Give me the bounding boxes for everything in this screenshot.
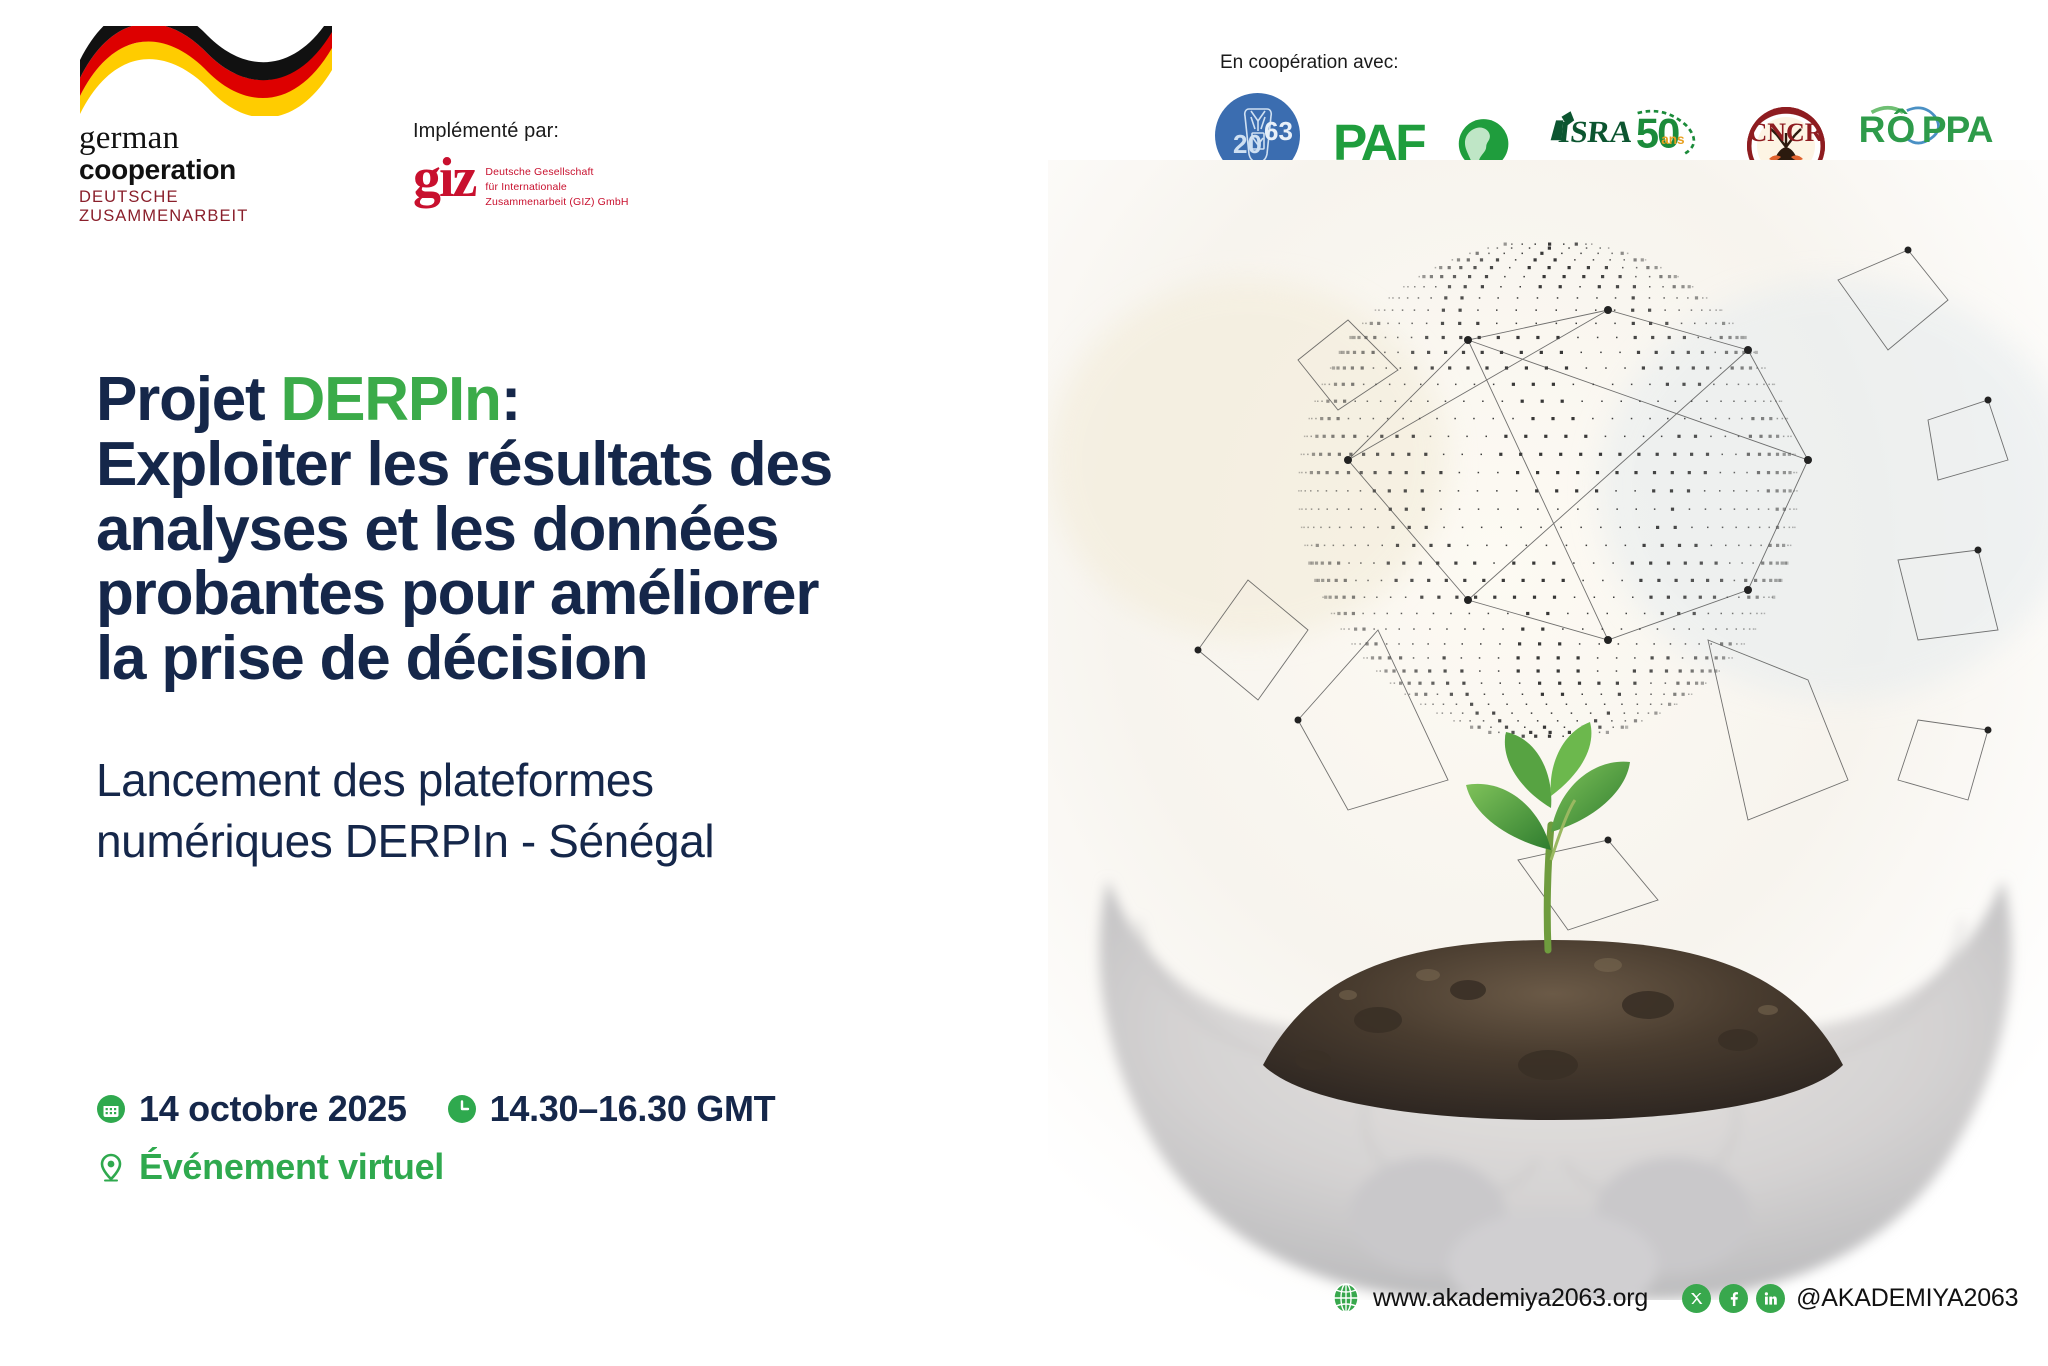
svg-text:R: R bbox=[1859, 108, 1886, 150]
title-line-3: analyses et les données bbox=[96, 495, 778, 564]
calendar-icon bbox=[96, 1094, 126, 1124]
svg-text:ISRA: ISRA bbox=[1557, 114, 1635, 149]
globe-icon bbox=[1330, 1282, 1362, 1314]
map-pin-icon bbox=[96, 1152, 126, 1182]
hands-globe-seedling-image: dots bbox=[1048, 160, 2048, 1300]
isra-bame-logo-icon: ISRA 50 ans bbox=[1547, 104, 1719, 162]
svg-text:CNCR: CNCR bbox=[1748, 118, 1823, 147]
social-handle[interactable]: @AKADEMIYA2063 bbox=[1796, 1284, 2018, 1313]
event-date: 14 octobre 2025 bbox=[96, 1088, 407, 1130]
event-date-text: 14 octobre 2025 bbox=[139, 1088, 407, 1130]
page-title: Projet DERPIn: Exploiter les résultats d… bbox=[96, 368, 1056, 692]
giz-org-line3: Zusammenarbeit (GIZ) GmbH bbox=[485, 195, 628, 210]
main-content: Projet DERPIn: Exploiter les résultats d… bbox=[96, 368, 1056, 871]
gc-line-cooperation: cooperation bbox=[79, 155, 344, 184]
event-time: 14.30–16.30 GMT bbox=[447, 1088, 776, 1130]
clock-icon bbox=[447, 1094, 477, 1124]
page-subtitle: Lancement des plateformes numériques DER… bbox=[96, 750, 1056, 871]
subtitle-line-1: Lancement des plateformes bbox=[96, 754, 654, 806]
event-time-text: 14.30–16.30 GMT bbox=[490, 1088, 776, 1130]
title-line-1: Projet DERPIn: bbox=[96, 365, 520, 434]
svg-text:PPA: PPA bbox=[1922, 108, 1993, 150]
website-group[interactable]: www.akademiya2063.org bbox=[1330, 1282, 1648, 1314]
social-icons[interactable] bbox=[1682, 1284, 1785, 1313]
german-flag-wave-icon bbox=[74, 26, 344, 116]
title-accent-derpin: DERPIn bbox=[281, 365, 501, 434]
gc-line-german: german bbox=[79, 122, 344, 155]
giz-org-line1: Deutsche Gesellschaft bbox=[485, 165, 628, 180]
title-line-4: probantes pour améliorer bbox=[96, 559, 818, 628]
giz-wordmark: giz bbox=[413, 155, 475, 203]
event-location-text: Événement virtuel bbox=[139, 1146, 444, 1188]
title-line-5: la prise de décision bbox=[96, 624, 647, 693]
subtitle-line-2: numériques DERPIn - Sénégal bbox=[96, 815, 714, 867]
linkedin-icon[interactable] bbox=[1756, 1284, 1785, 1313]
giz-org-name: Deutsche Gesellschaft für Internationale… bbox=[485, 155, 628, 210]
footer: www.akademiya2063.org @AKADEMIYA2063 bbox=[1330, 1282, 2018, 1314]
svg-text:63: 63 bbox=[1264, 116, 1293, 146]
facebook-icon[interactable] bbox=[1719, 1284, 1748, 1313]
cooperation-label: En coopération avec: bbox=[1220, 52, 2000, 74]
gc-line-deutsche-zusammenarbeit: DEUTSCHE ZUSAMMENARBEIT bbox=[79, 188, 344, 226]
svg-text:Ô: Ô bbox=[1886, 108, 1914, 150]
giz-logo-block: Implémenté par: giz Deutsche Gesellschaf… bbox=[413, 120, 693, 210]
german-cooperation-logo: german cooperation DEUTSCHE ZUSAMMENARBE… bbox=[74, 26, 344, 226]
event-details: 14 octobre 2025 14.30–16.30 GMT Événemen… bbox=[96, 1088, 775, 1188]
roppa-logo-icon: R Ô PPA bbox=[1853, 105, 2039, 162]
x-twitter-icon[interactable] bbox=[1682, 1284, 1711, 1313]
title-prefix: Projet bbox=[96, 365, 281, 434]
svg-text:ans: ans bbox=[1661, 131, 1684, 146]
svg-text:20: 20 bbox=[1233, 129, 1262, 159]
event-location: Événement virtuel bbox=[96, 1146, 444, 1188]
title-colon: : bbox=[501, 365, 520, 434]
social-group[interactable]: @AKADEMIYA2063 bbox=[1682, 1284, 2018, 1313]
website-url[interactable]: www.akademiya2063.org bbox=[1373, 1284, 1648, 1313]
title-line-2: Exploiter les résultats des bbox=[96, 430, 832, 499]
implemented-by-label: Implémenté par: bbox=[413, 120, 693, 143]
giz-org-line2: für Internationale bbox=[485, 180, 628, 195]
